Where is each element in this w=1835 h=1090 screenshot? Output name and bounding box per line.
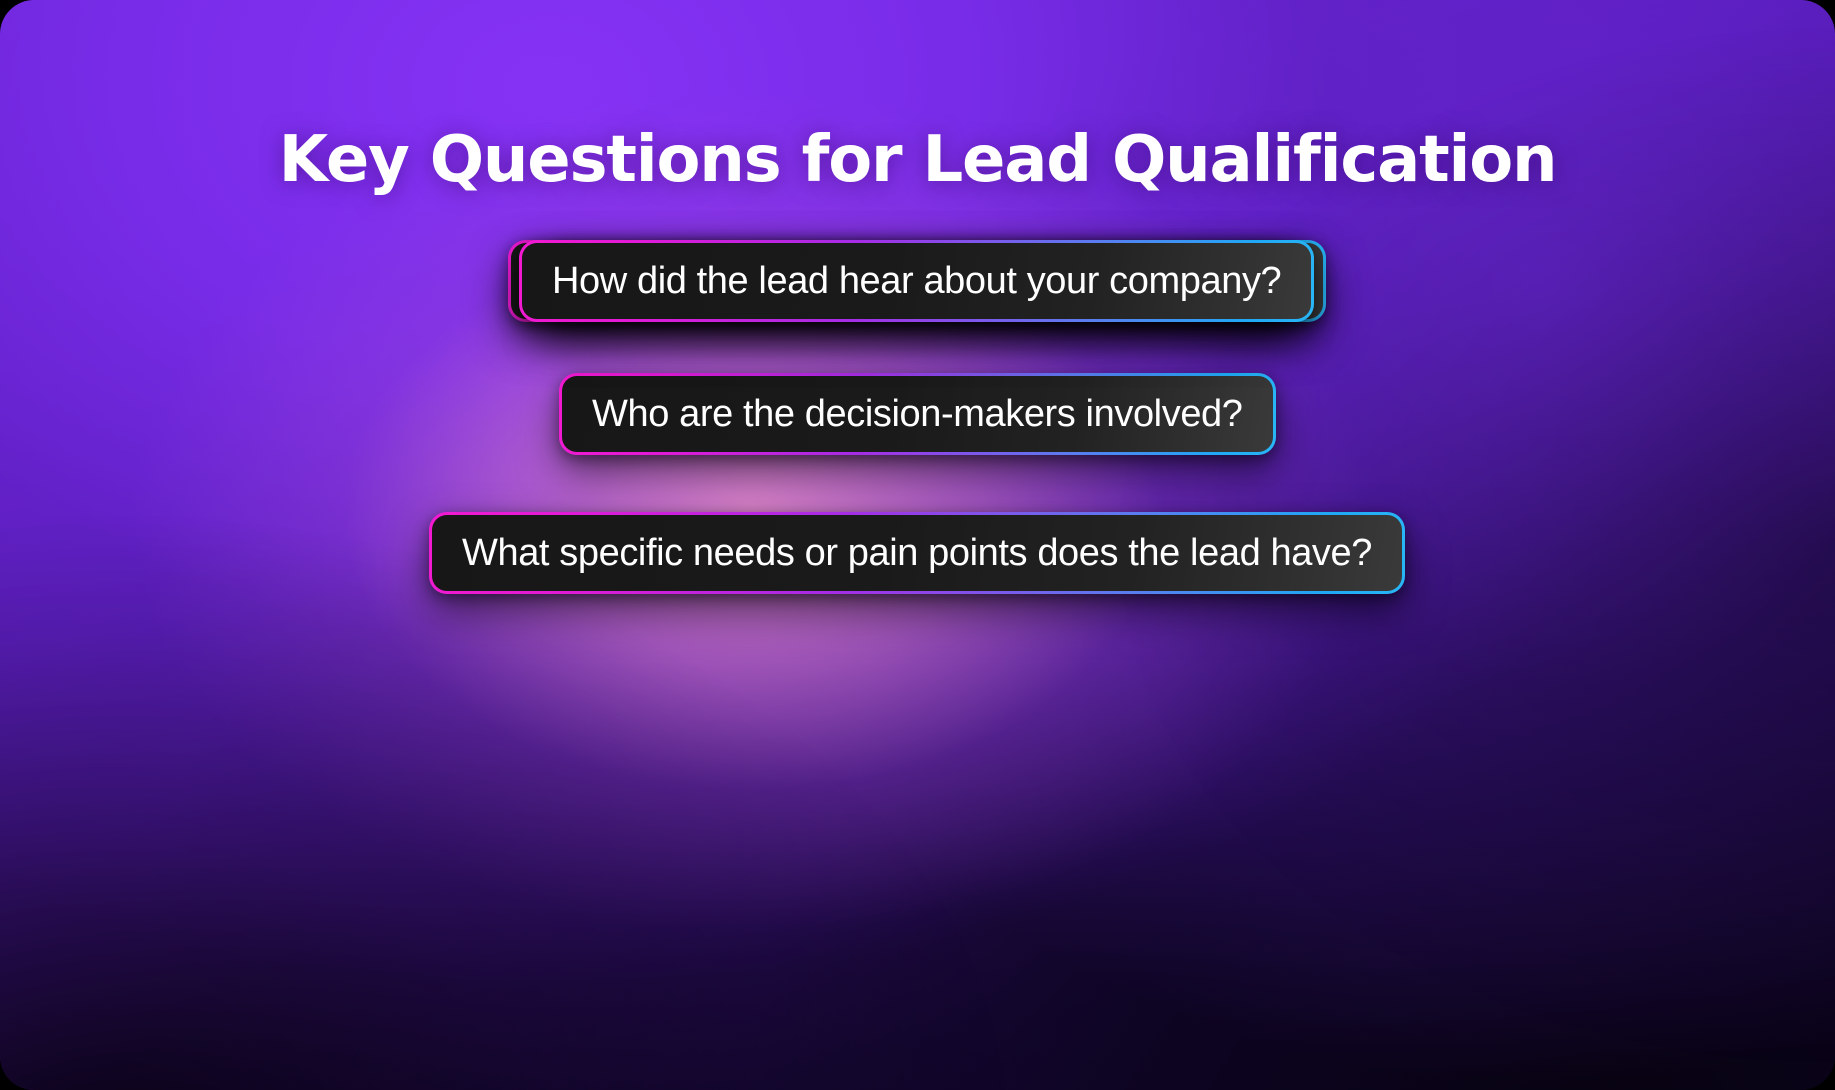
page-title: Key Questions for Lead Qualification bbox=[0, 127, 1835, 194]
question-card[interactable]: What specific needs or pain points does … bbox=[429, 512, 1405, 594]
slide-background: Key Questions for Lead Qualification Wha… bbox=[0, 0, 1835, 1090]
question-card-label: How did the lead hear about your company… bbox=[522, 243, 1311, 319]
question-card-label: Who are the decision-makers involved? bbox=[562, 376, 1273, 452]
question-list: What is the lead's budget for this proje… bbox=[0, 240, 1835, 900]
question-card-label: What specific needs or pain points does … bbox=[432, 515, 1402, 591]
question-card[interactable]: How did the lead hear about your company… bbox=[519, 240, 1314, 322]
question-card[interactable]: Who are the decision-makers involved? bbox=[559, 373, 1276, 455]
slide-canvas: Key Questions for Lead Qualification Wha… bbox=[0, 0, 1835, 1090]
